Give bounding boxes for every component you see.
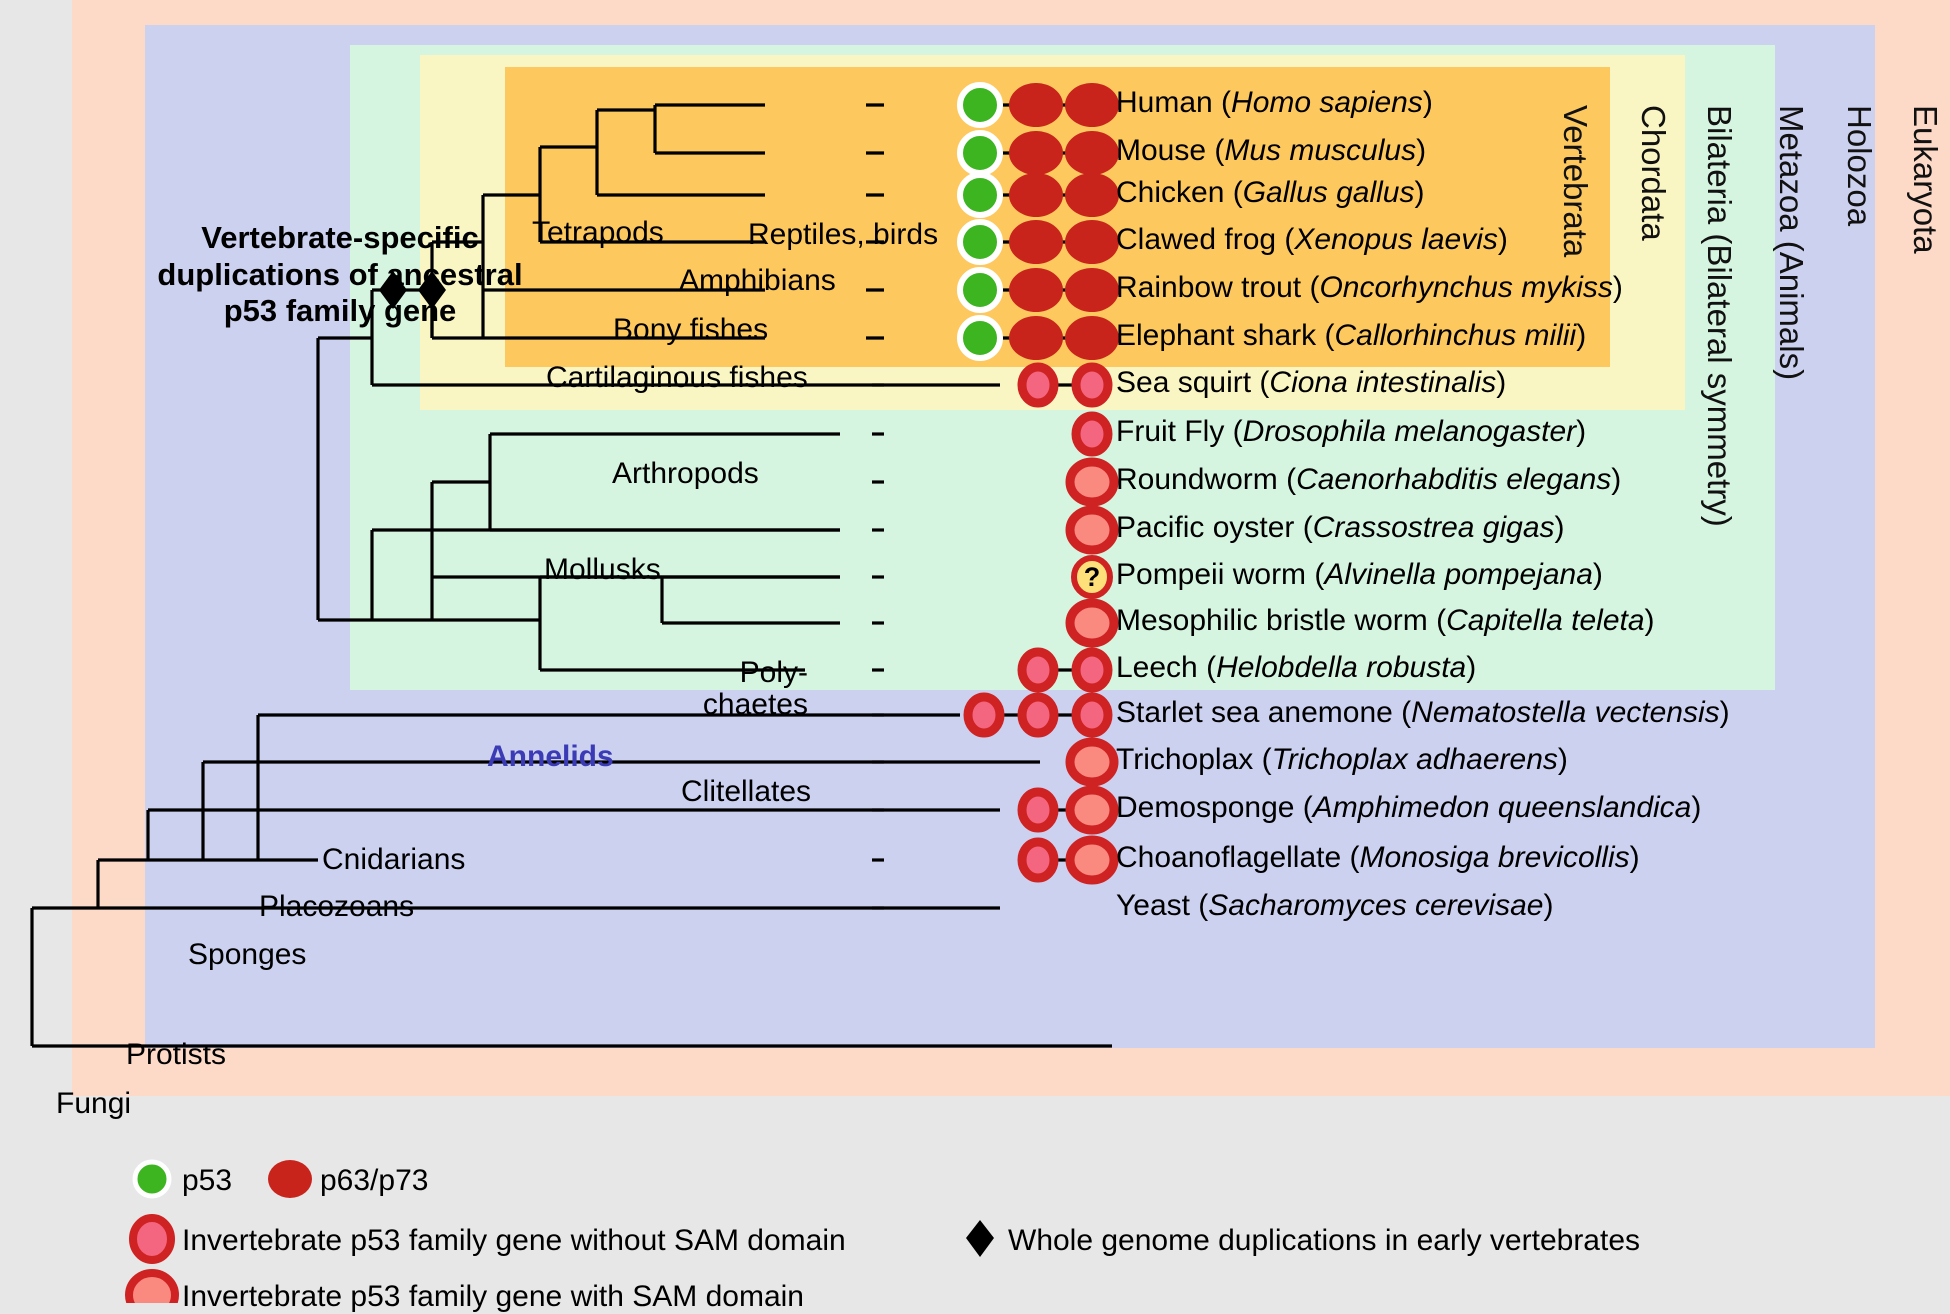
taxon-common-name: Rainbow trout: [1116, 271, 1301, 304]
gene-marker-inv-no-sam: [1022, 697, 1054, 733]
clade-label-mollusks: Mollusks: [544, 555, 661, 586]
taxon-row: Sea squirt (Ciona intestinalis): [1116, 368, 1506, 398]
band-label-chordata: Chordata: [1634, 105, 1672, 241]
gene-marker-inv-no-sam: [1076, 367, 1108, 403]
gene-marker-p53: [960, 133, 1000, 173]
question-mark-icon: ?: [1084, 562, 1101, 592]
gene-marker-inv-sam: [1070, 742, 1114, 782]
taxon-common-name: Roundworm: [1116, 463, 1278, 496]
band-label-holozoa: Holozoa: [1840, 105, 1878, 226]
clade-label-amphibians: Amphibians: [679, 266, 836, 297]
duplication-annotation: Vertebrate-specific duplications of ance…: [140, 220, 540, 330]
gene-marker-p63p73: [1065, 131, 1119, 175]
taxon-common-name: Starlet sea anemone: [1116, 696, 1393, 729]
taxon-latin-name: Capitella teleta: [1446, 604, 1644, 637]
taxon-latin-name: Amphimedon queenslandica: [1313, 791, 1692, 824]
taxon-latin-name: Crassostrea gigas: [1313, 511, 1555, 544]
taxon-row: Roundworm (Caenorhabditis elegans): [1116, 465, 1621, 495]
legend-p63p73-icon: [268, 1160, 312, 1198]
gene-marker-p53: [960, 318, 1000, 358]
gene-marker-inv-sam: [1070, 603, 1114, 643]
taxon-row: Leech (Helobdella robusta): [1116, 653, 1476, 683]
gene-marker-p63p73: [1065, 173, 1119, 217]
taxon-row: Mouse (Mus musculus): [1116, 136, 1426, 166]
gene-marker-inv-no-sam: [968, 697, 1000, 733]
clade-label-polychaetes: Poly- chaetes: [688, 657, 808, 720]
gene-marker-p63p73: [1065, 83, 1119, 127]
clade-label-arthropods: Arthropods: [612, 459, 759, 490]
clade-label-fungi: Fungi: [56, 1089, 131, 1120]
taxon-row: Choanoflagellate (Monosiga brevicollis): [1116, 843, 1640, 873]
taxon-latin-name: Homo sapiens: [1231, 86, 1423, 119]
legend-p63p73-label: p63/p73: [320, 1164, 428, 1198]
clade-label-sponges: Sponges: [188, 940, 306, 971]
gene-marker-p63p73: [1065, 220, 1119, 264]
taxon-common-name: Choanoflagellate: [1116, 841, 1341, 874]
taxon-row: Fruit Fly (Drosophila melanogaster): [1116, 417, 1586, 447]
clade-label-protists: Protists: [126, 1040, 226, 1071]
legend-inv-sam-label: Invertebrate p53 family gene with SAM do…: [182, 1280, 804, 1314]
gene-marker-p63p73: [1009, 316, 1063, 360]
taxon-common-name: Clawed frog: [1116, 223, 1276, 256]
taxon-common-name: Yeast: [1116, 889, 1190, 922]
taxon-row: Starlet sea anemone (Nematostella vecten…: [1116, 698, 1730, 728]
band-label-bilateria: Bilateria (Bilateral symmetry): [1700, 105, 1738, 527]
clade-label-placozoans: Placozoans: [259, 892, 414, 923]
taxon-row: Yeast (Sacharomyces cerevisae): [1116, 891, 1553, 921]
gene-marker-p63p73: [1009, 131, 1063, 175]
clade-label-tetrapods: Tetrapods: [532, 218, 664, 249]
taxon-latin-name: Callorhinchus milii: [1334, 319, 1576, 352]
taxon-row: Clawed frog (Xenopus laevis): [1116, 225, 1508, 255]
legend-inv-no-sam-icon: [133, 1218, 171, 1260]
taxon-latin-name: Drosophila melanogaster: [1243, 415, 1577, 448]
gene-marker-inv-sam: [1070, 510, 1114, 550]
gene-marker-inv-no-sam: [1076, 697, 1108, 733]
taxon-row: Rainbow trout (Oncorhynchus mykiss): [1116, 273, 1623, 303]
gene-marker-inv-sam: [1070, 840, 1114, 880]
gene-marker-p53: [960, 175, 1000, 215]
gene-marker-p63p73: [1065, 268, 1119, 312]
gene-marker-inv-sam: [1070, 790, 1114, 830]
gene-marker-p53: [960, 85, 1000, 125]
gene-marker-p63p73: [1009, 220, 1063, 264]
taxon-common-name: Elephant shark: [1116, 319, 1316, 352]
gene-marker-unknown: ?: [1074, 558, 1110, 596]
taxon-row: Elephant shark (Callorhinchus milii): [1116, 321, 1586, 351]
gene-marker-inv-no-sam: [1022, 792, 1054, 828]
legend-inv-no-sam-label: Invertebrate p53 family gene without SAM…: [182, 1224, 846, 1258]
gene-marker-inv-no-sam: [1022, 652, 1054, 688]
taxon-common-name: Fruit Fly: [1116, 415, 1224, 448]
clade-label-cartilaginous-fishes: Cartilaginous fishes: [546, 363, 808, 394]
taxon-row: Pacific oyster (Crassostrea gigas): [1116, 513, 1565, 543]
gene-marker-inv-sam: [1070, 462, 1114, 502]
band-label-metazoa: Metazoa (Animals): [1772, 105, 1810, 380]
clade-label-annelids: Annelids: [487, 742, 614, 773]
taxon-row: Human (Homo sapiens): [1116, 88, 1433, 118]
taxon-latin-name: Gallus gallus: [1243, 176, 1415, 209]
legend-p53-label: p53: [182, 1164, 232, 1198]
taxon-common-name: Demosponge: [1116, 791, 1294, 824]
gene-marker-p53: [960, 222, 1000, 262]
taxon-latin-name: Xenopus laevis: [1294, 223, 1497, 256]
taxon-row: Chicken (Gallus gallus): [1116, 178, 1424, 208]
taxon-common-name: Mesophilic bristle worm: [1116, 604, 1428, 637]
gene-marker-p63p73: [1009, 173, 1063, 217]
taxon-common-name: Trichoplax: [1116, 743, 1253, 776]
taxon-latin-name: Helobdella robusta: [1216, 651, 1466, 684]
taxon-row: Mesophilic bristle worm (Capitella telet…: [1116, 606, 1655, 636]
legend-inv-sam-icon: [129, 1273, 175, 1303]
legend-duplication-label: Whole genome duplications in early verte…: [1008, 1224, 1640, 1258]
band-label-eukaryota: Eukaryota: [1906, 105, 1944, 254]
gene-marker-p63p73: [1009, 268, 1063, 312]
gene-marker-inv-no-sam: [1022, 842, 1054, 878]
taxon-latin-name: Sacharomyces cerevisae: [1208, 889, 1543, 922]
taxon-row: Pompeii worm (Alvinella pompejana): [1116, 560, 1603, 590]
gene-marker-inv-no-sam: [1076, 416, 1108, 452]
gene-marker-p63p73: [1009, 83, 1063, 127]
taxon-common-name: Pacific oyster: [1116, 511, 1303, 544]
clade-label-cnidarians: Cnidarians: [322, 845, 465, 876]
taxon-latin-name: Oncorhynchus mykiss: [1319, 271, 1612, 304]
legend-diamond-icon: [966, 1220, 994, 1257]
taxon-latin-name: Ciona intestinalis: [1269, 366, 1496, 399]
taxon-row: Trichoplax (Trichoplax adhaerens): [1116, 745, 1568, 775]
taxon-row: Demosponge (Amphimedon queenslandica): [1116, 793, 1701, 823]
taxon-latin-name: Trichoplax adhaerens: [1272, 743, 1558, 776]
taxon-common-name: Mouse: [1116, 134, 1206, 167]
taxon-latin-name: Mus musculus: [1224, 134, 1416, 167]
gene-marker-p63p73: [1065, 316, 1119, 360]
taxon-common-name: Pompeii worm: [1116, 558, 1306, 591]
gene-marker-p53: [960, 270, 1000, 310]
taxon-common-name: Sea squirt: [1116, 366, 1251, 399]
gene-marker-inv-no-sam: [1022, 367, 1054, 403]
clade-label-clitellates: Clitellates: [681, 777, 811, 808]
taxon-common-name: Chicken: [1116, 176, 1224, 209]
taxon-latin-name: Nematostella vectensis: [1411, 696, 1719, 729]
band-label-vertebrata: Vertebrata: [1556, 105, 1594, 257]
clade-label-bony-fishes: Bony fishes: [613, 315, 768, 346]
taxon-common-name: Leech: [1116, 651, 1198, 684]
clade-label-reptiles-birds: Reptiles, birds: [748, 220, 938, 251]
taxon-latin-name: Caenorhabditis elegans: [1296, 463, 1611, 496]
legend-p53-icon: [135, 1162, 169, 1196]
taxon-latin-name: Alvinella pompejana: [1324, 558, 1593, 591]
taxon-latin-name: Monosiga brevicollis: [1360, 841, 1630, 874]
gene-marker-inv-no-sam: [1076, 652, 1108, 688]
taxon-common-name: Human: [1116, 86, 1213, 119]
phylogeny-figure: ? Vertebrata Chordata Bilateria (Bilater…: [0, 0, 1950, 1303]
